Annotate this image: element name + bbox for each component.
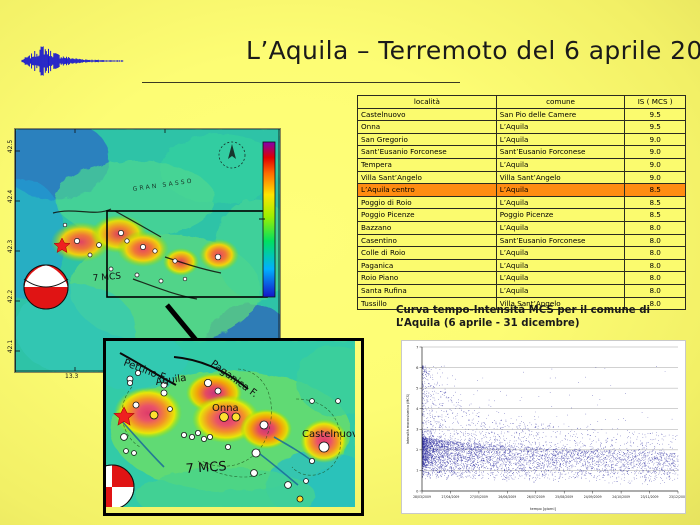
table-body: CastelnuovoSan Pio delle Camere9.5OnnaL’… (358, 108, 686, 310)
inset-map-graphic: Pettino F. Paganica F. Aquila Onna Caste… (106, 341, 355, 507)
table-cell-is-mcs: 8.0 (625, 272, 686, 285)
table-cell-is-mcs: 8.0 (625, 259, 686, 272)
data-points (422, 366, 678, 485)
table-cell-comune: L’Aquila (496, 196, 625, 209)
lat-tick-3: 42.2 (7, 290, 14, 303)
table-cell-is-mcs: 8.5 (625, 196, 686, 209)
table-cell-localita: San Gregorio (358, 133, 497, 146)
column-header-localita: località (358, 96, 497, 109)
table-cell-is-mcs: 8.0 (625, 221, 686, 234)
svg-text:7: 7 (416, 345, 418, 349)
table-cell-is-mcs: 9.0 (625, 133, 686, 146)
svg-text:2: 2 (416, 448, 418, 452)
table-cell-comune: L’Aquila (496, 158, 625, 171)
svg-text:25/08/2009: 25/08/2009 (555, 495, 573, 499)
svg-text:26/07/2009: 26/07/2009 (527, 495, 545, 499)
scatter-plot: 01234567 28/03/200927/04/200927/05/20092… (402, 341, 685, 513)
page-title: L’Aquila – Terremoto del 6 aprile 2009 (246, 36, 696, 78)
table-cell-localita: Onna (358, 121, 497, 134)
seismogram-icon (18, 30, 126, 92)
y-axis-label: Intensità macrosismica (MCS) (406, 393, 410, 444)
table-cell-comune: L’Aquila (496, 133, 625, 146)
svg-text:28/03/2009: 28/03/2009 (413, 495, 431, 499)
table-cell-comune: Villa Sant’Angelo (496, 171, 625, 184)
svg-text:3: 3 (416, 428, 418, 432)
table-cell-comune: L’Aquila (496, 259, 625, 272)
table-cell-localita: Paganica (358, 259, 497, 272)
castelnuovo-town-label: Castelnuovo (302, 429, 355, 440)
svg-text:4: 4 (416, 407, 419, 411)
inset-shakemap[interactable]: Pettino F. Paganica F. Aquila Onna Caste… (103, 338, 364, 516)
table-cell-localita: Poggio di Roio (358, 196, 497, 209)
svg-text:6: 6 (416, 366, 419, 370)
table-row[interactable]: San GregorioL’Aquila9.0 (358, 133, 686, 146)
table-row[interactable]: Poggio PicenzePoggio Picenze8.5 (358, 209, 686, 222)
svg-text:24/10/2009: 24/10/2009 (612, 495, 630, 499)
table-cell-localita: Castelnuovo (358, 108, 497, 121)
time-intensity-chart[interactable]: 01234567 28/03/200927/04/200927/05/20092… (401, 340, 686, 514)
lat-tick-0: 42.5 (7, 140, 14, 153)
seismogram-waveform (18, 30, 126, 92)
table-cell-comune: Poggio Picenze (496, 209, 625, 222)
table-cell-localita: Colle di Roio (358, 247, 497, 260)
table-row[interactable]: Colle di RoioL’Aquila8.0 (358, 247, 686, 260)
lon-tick-0: 13.3 (65, 373, 78, 380)
svg-text:1: 1 (416, 469, 418, 473)
table-cell-localita: Bazzano (358, 221, 497, 234)
table-cell-is-mcs: 8.5 (625, 184, 686, 197)
column-header-is-mcs: IS ( MCS ) (625, 96, 686, 109)
svg-text:5: 5 (416, 386, 418, 390)
table-cell-comune: L’Aquila (496, 284, 625, 297)
table-cell-comune: L’Aquila (496, 121, 625, 134)
lat-tick-2: 42.3 (7, 240, 14, 253)
table-cell-comune: Sant’Eusanio Forconese (496, 234, 625, 247)
table-cell-comune: L’Aquila (496, 184, 625, 197)
chart-title-line-1: Curva tempo-Intensità MCS per il comune … (396, 305, 686, 318)
svg-text:24/09/2009: 24/09/2009 (584, 495, 602, 499)
main-map-graphic: GRAN SASSO 7 MCS (15, 129, 280, 372)
y-axis-ticks: 01234567 (416, 345, 422, 493)
table-row[interactable]: BazzanoL’Aquila8.0 (358, 221, 686, 234)
x-axis-label: tempo [giorni] (530, 507, 556, 511)
table-cell-comune: L’Aquila (496, 247, 625, 260)
table-cell-comune: San Pio delle Camere (496, 108, 625, 121)
chart-title-line-2: L’Aquila (6 aprile - 31 dicembre) (396, 318, 686, 331)
table-cell-is-mcs: 9.0 (625, 146, 686, 159)
table-cell-comune: L’Aquila (496, 272, 625, 285)
table-row[interactable]: PaganicaL’Aquila8.0 (358, 259, 686, 272)
table-cell-localita: Villa Sant’Angelo (358, 171, 497, 184)
svg-text:23/11/2009: 23/11/2009 (641, 495, 659, 499)
table-row[interactable]: OnnaL’Aquila9.5 (358, 121, 686, 134)
onna-town-label: Onna (212, 403, 239, 414)
table-row[interactable]: Villa Sant’AngeloVilla Sant’Angelo9.0 (358, 171, 686, 184)
table-cell-is-mcs: 9.0 (625, 171, 686, 184)
table-cell-localita: Roio Piano (358, 272, 497, 285)
table-cell-is-mcs: 8.0 (625, 234, 686, 247)
svg-text:27/05/2009: 27/05/2009 (470, 495, 488, 499)
table-row[interactable]: CasentinoSant’Eusanio Forconese8.0 (358, 234, 686, 247)
lat-tick-1: 42.4 (7, 190, 14, 203)
table-cell-localita: L’Aquila centro (358, 184, 497, 197)
table-header-row: località comune IS ( MCS ) (358, 96, 686, 109)
intensity-table: località comune IS ( MCS ) CastelnuovoSa… (357, 95, 686, 310)
lat-tick-4: 42.1 (7, 340, 14, 353)
column-header-comune: comune (496, 96, 625, 109)
svg-text:0: 0 (416, 489, 419, 493)
title-underline (142, 82, 460, 83)
svg-text:26/06/2009: 26/06/2009 (498, 495, 516, 499)
table-row[interactable]: Santa RufinaL’Aquila8.0 (358, 284, 686, 297)
mcs7-label-inset: 7 MCS (185, 459, 227, 477)
table-cell-localita: Tempera (358, 158, 497, 171)
gridlines (422, 347, 678, 470)
table-cell-is-mcs: 8.5 (625, 209, 686, 222)
table-cell-comune: L’Aquila (496, 221, 625, 234)
x-axis-ticks: 28/03/200927/04/200927/05/200926/06/2009… (413, 491, 685, 499)
table-cell-localita: Casentino (358, 234, 497, 247)
table-cell-is-mcs: 8.0 (625, 247, 686, 260)
table-cell-localita: Santa Rufina (358, 284, 497, 297)
table-cell-is-mcs: 9.0 (625, 158, 686, 171)
table-row[interactable]: Poggio di RoioL’Aquila8.5 (358, 196, 686, 209)
table-cell-localita: Poggio Picenze (358, 209, 497, 222)
table-row[interactable]: Sant’Eusanio ForconeseSant’Eusanio Forco… (358, 146, 686, 159)
table-row[interactable]: L’Aquila centroL’Aquila8.5 (358, 184, 686, 197)
axis-lines (422, 347, 678, 491)
table-row[interactable]: TemperaL’Aquila9.0 (358, 158, 686, 171)
main-shakemap[interactable]: GRAN SASSO 7 MCS 42.5 42.4 42.3 42.2 42.… (14, 128, 281, 373)
table-row[interactable]: CastelnuovoSan Pio delle Camere9.5 (358, 108, 686, 121)
table-cell-comune: Sant’Eusanio Forconese (496, 146, 625, 159)
table-row[interactable]: Roio PianoL’Aquila8.0 (358, 272, 686, 285)
svg-text:23/12/2009: 23/12/2009 (669, 495, 685, 499)
table-cell-is-mcs: 9.5 (625, 121, 686, 134)
table-cell-is-mcs: 9.5 (625, 108, 686, 121)
focal-mechanism-beachball (24, 265, 68, 309)
svg-text:27/04/2009: 27/04/2009 (442, 495, 460, 499)
table-cell-localita: Sant’Eusanio Forconese (358, 146, 497, 159)
table-cell-is-mcs: 8.0 (625, 284, 686, 297)
chart-title: Curva tempo-Intensità MCS per il comune … (396, 305, 686, 330)
